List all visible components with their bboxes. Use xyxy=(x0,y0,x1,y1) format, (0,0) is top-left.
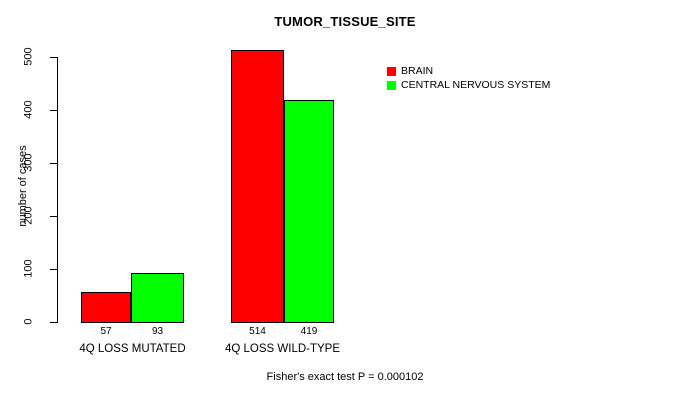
legend-item: BRAIN xyxy=(387,64,550,78)
bar xyxy=(131,273,184,323)
y-tick-mark xyxy=(50,216,57,217)
y-tick-label: 400 xyxy=(8,104,46,116)
y-tick-mark xyxy=(50,322,57,323)
y-tick-label-text: 100 xyxy=(24,252,35,286)
y-tick-label: 500 xyxy=(8,51,46,63)
y-tick-label: 300 xyxy=(8,157,46,169)
statistical-annotation: Fisher's exact test P = 0.000102 xyxy=(0,371,690,383)
legend-item-label: CENTRAL NERVOUS SYSTEM xyxy=(401,80,550,91)
y-tick-label-text: 200 xyxy=(24,199,35,233)
y-tick-mark xyxy=(50,269,57,270)
x-axis-group-label: 4Q LOSS WILD-TYPE xyxy=(173,343,393,356)
legend-color-swatch xyxy=(387,81,396,90)
y-tick-mark xyxy=(50,163,57,164)
y-axis-line xyxy=(57,57,58,323)
barplot-figure: TUMOR_TISSUE_SITE number of cases 010020… xyxy=(0,0,690,400)
legend-color-swatch xyxy=(387,67,396,76)
y-tick-label-text: 500 xyxy=(24,40,35,74)
bar xyxy=(284,100,334,323)
bar xyxy=(81,292,131,323)
bar-value-label: 93 xyxy=(131,326,184,338)
y-tick-label-text: 400 xyxy=(24,93,35,127)
y-tick-label: 200 xyxy=(8,210,46,222)
y-axis-title: number of cases xyxy=(17,116,29,256)
legend-item: CENTRAL NERVOUS SYSTEM xyxy=(387,78,550,92)
bar-value-label: 514 xyxy=(231,326,284,338)
bar-value-label: 57 xyxy=(81,326,131,338)
bar xyxy=(231,50,284,323)
y-tick-label-text: 0 xyxy=(24,305,35,339)
page-title: TUMOR_TISSUE_SITE xyxy=(0,14,690,29)
legend-item-label: BRAIN xyxy=(401,66,433,77)
legend: BRAINCENTRAL NERVOUS SYSTEM xyxy=(387,64,550,92)
bar-value-label: 419 xyxy=(284,326,334,338)
y-tick-mark xyxy=(50,57,57,58)
y-tick-label: 100 xyxy=(8,263,46,275)
y-tick-mark xyxy=(50,110,57,111)
y-tick-label-text: 300 xyxy=(24,146,35,180)
y-tick-label: 0 xyxy=(8,316,46,328)
